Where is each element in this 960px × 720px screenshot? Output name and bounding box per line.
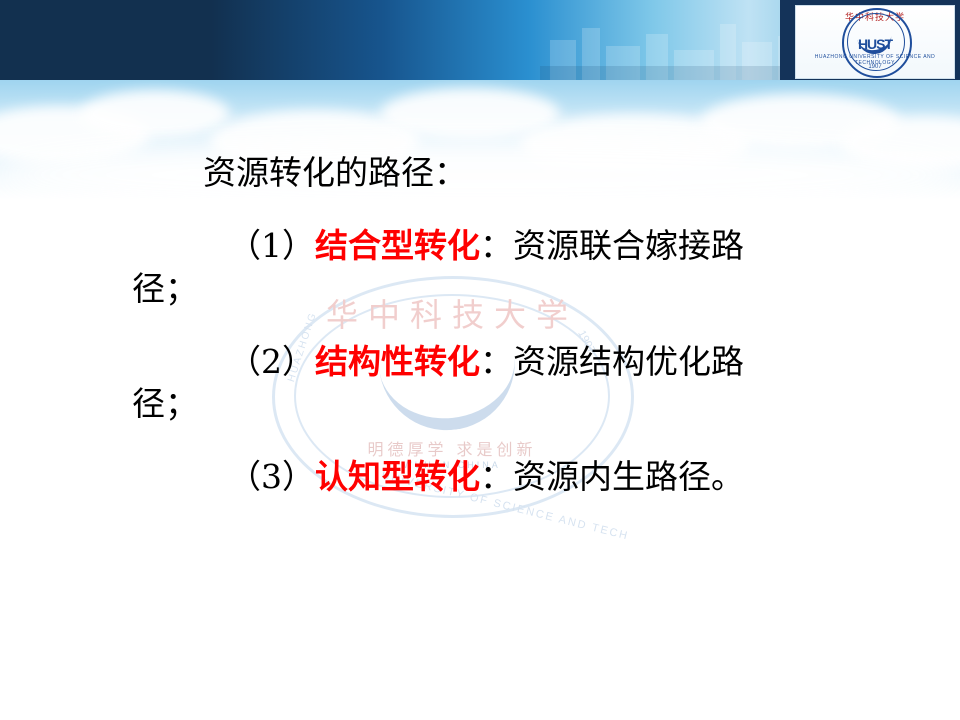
- item-text: 资源内生路径。: [513, 457, 744, 496]
- list-item-continuation: 径；: [0, 381, 960, 428]
- list-item: （3）认知型转化：资源内生路径。: [0, 454, 960, 501]
- item-text: 资源结构优化路: [513, 342, 744, 381]
- item-colon: ：: [480, 457, 513, 496]
- item-number: （2）: [228, 342, 315, 381]
- item-number: （1）: [228, 226, 315, 265]
- logo-year: 1907: [796, 64, 954, 70]
- item-colon: ：: [480, 342, 513, 381]
- item-colon: ：: [480, 226, 513, 265]
- slide-canvas: 华中科技大学 HUST HUAZHONG UNIVERSITY OF SCIEN…: [0, 0, 960, 720]
- hust-logo: 华中科技大学 HUST HUAZHONG UNIVERSITY OF SCIEN…: [795, 5, 955, 79]
- slide-body: 资源转化的路径： （1）结合型转化：资源联合嫁接路 径； （2）结构性转化：资源…: [0, 150, 960, 501]
- item-highlight: 认知型转化: [315, 457, 480, 496]
- list-item-continuation: 径；: [0, 266, 960, 313]
- item-highlight: 结合型转化: [315, 226, 480, 265]
- item-highlight: 结构性转化: [315, 342, 480, 381]
- item-text: 资源联合嫁接路: [513, 226, 744, 265]
- list-item: （2）结构性转化：资源结构优化路: [0, 339, 960, 386]
- logo-abbrev: HUST: [796, 36, 954, 52]
- slide-title: 资源转化的路径：: [0, 150, 960, 197]
- item-number: （3）: [228, 457, 315, 496]
- list-item: （1）结合型转化：资源联合嫁接路: [0, 223, 960, 270]
